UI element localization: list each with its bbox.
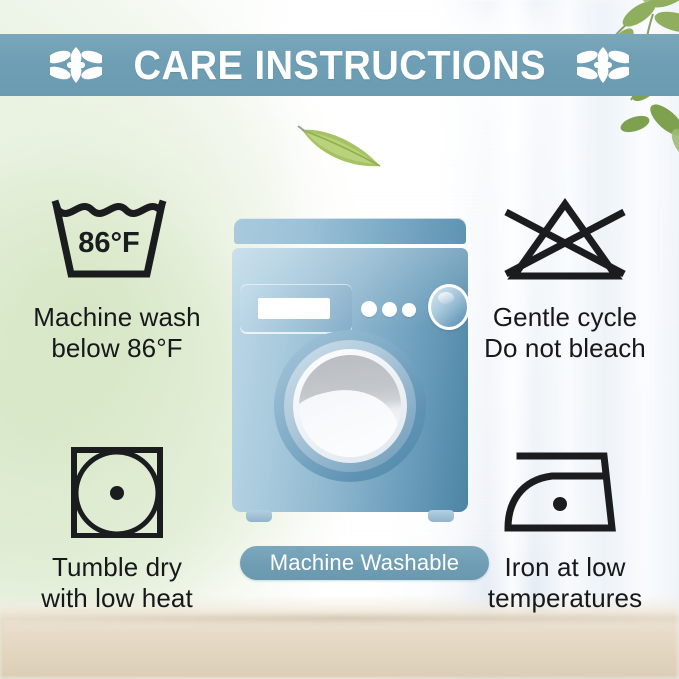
indicator-light <box>361 301 377 317</box>
fleur-de-lis-icon-right <box>577 42 629 88</box>
tumble-dry-icon <box>42 446 192 543</box>
background-wood-grain <box>0 617 679 679</box>
machine-washable-badge: Machine Washable <box>240 546 489 580</box>
background-table-edge <box>0 616 679 621</box>
iron-icon <box>490 446 640 543</box>
detergent-drawer-panel <box>240 284 352 332</box>
door-inner-ring <box>284 340 416 472</box>
wash-temperature-value: 86°F <box>78 227 140 259</box>
machine-top-panel <box>234 218 466 244</box>
indicator-light <box>382 302 397 317</box>
page-title: CARE INSTRUCTIONS <box>133 45 546 86</box>
door-glass <box>299 355 401 457</box>
care-symbol-tumble-dry: Tumble dry with low heat <box>4 446 230 614</box>
triangle-crossed-icon <box>490 196 640 293</box>
care-symbol-machine-wash: 86°F Machine wash below 86°F <box>4 196 230 364</box>
badge-label: Machine Washable <box>270 550 459 576</box>
detergent-drawer-slot <box>258 298 330 319</box>
care-symbol-iron: Iron at low temperatures <box>452 446 678 614</box>
falling-leaf-icon <box>296 118 388 176</box>
door-bezel <box>293 349 407 463</box>
care-symbol-do-not-bleach: Gentle cycle Do not bleach <box>452 196 678 364</box>
care-symbol-caption: Tumble dry with low heat <box>41 552 193 614</box>
header-banner: CARE INSTRUCTIONS <box>0 34 679 96</box>
care-symbol-caption: Iron at low temperatures <box>488 552 642 614</box>
fleur-de-lis-icon-left <box>50 42 102 88</box>
machine-door <box>274 330 426 482</box>
washing-machine-illustration <box>232 218 468 530</box>
machine-foot-right <box>428 510 454 522</box>
machine-body <box>232 248 468 512</box>
care-symbol-caption: Gentle cycle Do not bleach <box>484 302 646 364</box>
machine-foot-left <box>246 510 272 522</box>
wash-tub-icon: 86°F <box>42 196 192 293</box>
program-dial <box>428 284 468 330</box>
indicator-light <box>402 303 416 317</box>
care-symbol-caption: Machine wash below 86°F <box>33 302 200 364</box>
machine-indicator-lights <box>361 301 419 319</box>
care-instructions-infographic: CARE INSTRUCTIONS 86°F <box>0 0 679 679</box>
